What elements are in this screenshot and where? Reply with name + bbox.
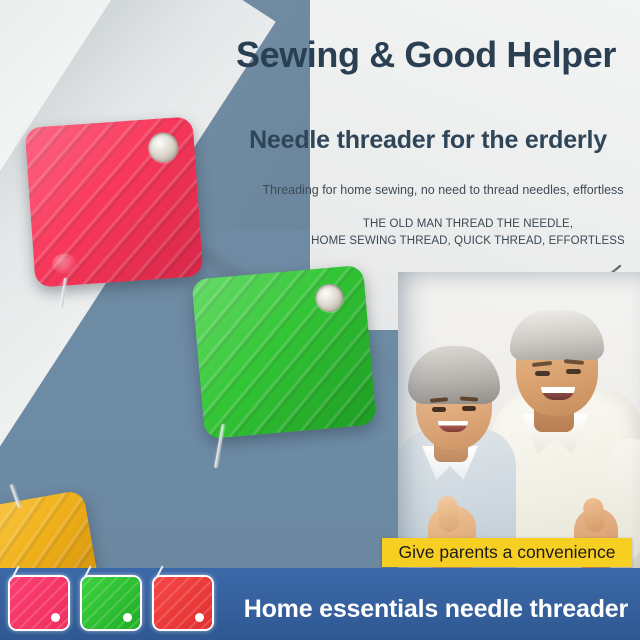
thumbnail-green[interactable] <box>80 575 142 631</box>
thumbnail-ridges-pink <box>10 577 68 629</box>
uppercase-line-2: HOME SEWING THREAD, QUICK THREAD, EFFORT… <box>300 233 636 250</box>
product-advertisement: Sewing & Good Helper Needle threader for… <box>0 0 640 640</box>
bottom-banner-title: Home essentials needle threader <box>244 595 628 624</box>
threader-sheen-green <box>191 265 376 439</box>
subheadline: Needle threader for the erderly <box>222 126 634 155</box>
thumbnail-pink[interactable] <box>8 575 70 631</box>
color-variant-thumbnails <box>8 575 214 631</box>
thumbnail-hole-green <box>123 613 132 622</box>
threader-body-green <box>191 265 376 439</box>
needle-threader-green <box>191 265 376 439</box>
thumbnail-ridges-green <box>82 577 140 629</box>
thumbnail-hole-pink <box>51 613 60 622</box>
bottom-banner: Home essentials needle threader <box>0 568 640 640</box>
uppercase-line-1: THE OLD MAN THREAD THE NEEDLE, <box>300 216 636 233</box>
photo-edge-blend <box>398 272 640 572</box>
tagline-text: Threading for home sewing, no need to th… <box>250 183 636 197</box>
thumbnail-body-green <box>82 577 140 629</box>
thumbnail-body-pink <box>10 577 68 629</box>
thumbnail-hole-red <box>195 613 204 622</box>
callout-banner: Give parents a convenience <box>382 538 632 567</box>
uppercase-description: THE OLD MAN THREAD THE NEEDLE, HOME SEWI… <box>300 216 636 251</box>
needle-threader-pink <box>25 116 204 287</box>
thumbnail-body-red <box>154 577 212 629</box>
headline: Sewing & Good Helper <box>222 36 630 74</box>
thumbnail-red[interactable] <box>152 575 214 631</box>
thumbnail-ridges-red <box>154 577 212 629</box>
elderly-couple-photo <box>398 272 640 572</box>
